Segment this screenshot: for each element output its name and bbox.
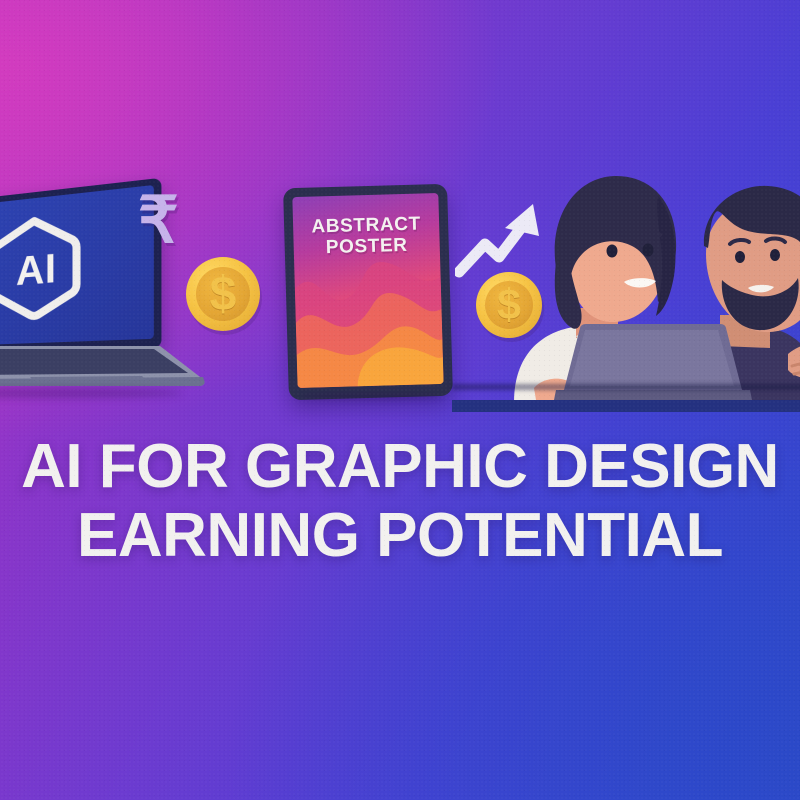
tablet-poster-illustration: ABSTRACT POSTER [286,186,450,398]
tablet-frame: ABSTRACT POSTER [283,184,453,400]
laptop-screen: AI [0,185,154,347]
poster-title-line-1: ABSTRACT [311,214,421,238]
abstract-poster-artwork: ABSTRACT POSTER [292,193,443,388]
desk-edge-shadow [452,384,800,390]
page-title: AI FOR GRAPHIC DESIGN EARNING POTENTIAL [0,432,800,571]
coin-dollar-symbol: $ [476,272,542,338]
ai-label: AI [16,247,57,291]
headline-line-2: EARNING POTENTIAL [0,501,800,570]
dollar-coin-icon-secondary: $ [476,272,542,338]
poster-title: ABSTRACT POSTER [293,213,440,260]
coin-dollar-symbol: $ [186,257,260,331]
poster-title-line-2: POSTER [326,235,408,258]
rupee-currency-icon: ₹ [138,188,179,252]
desk-surface [452,400,800,412]
banner-canvas: AI ₹ $ ABSTR [0,0,800,800]
laptop-base [0,344,206,388]
headline-line-1: AI FOR GRAPHIC DESIGN [0,432,800,501]
dollar-coin-icon: $ [186,257,260,331]
tablet-shadow [298,392,442,400]
laptop-shadow [0,388,182,398]
